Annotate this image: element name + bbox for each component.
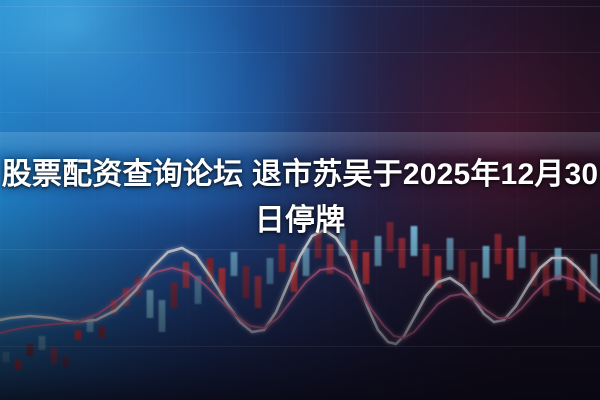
banner-image: 股票配资查询论坛 退市苏吴于2025年12月30日停牌: [0, 0, 600, 400]
page-title: 股票配资查询论坛 退市苏吴于2025年12月30日停牌: [0, 152, 600, 244]
